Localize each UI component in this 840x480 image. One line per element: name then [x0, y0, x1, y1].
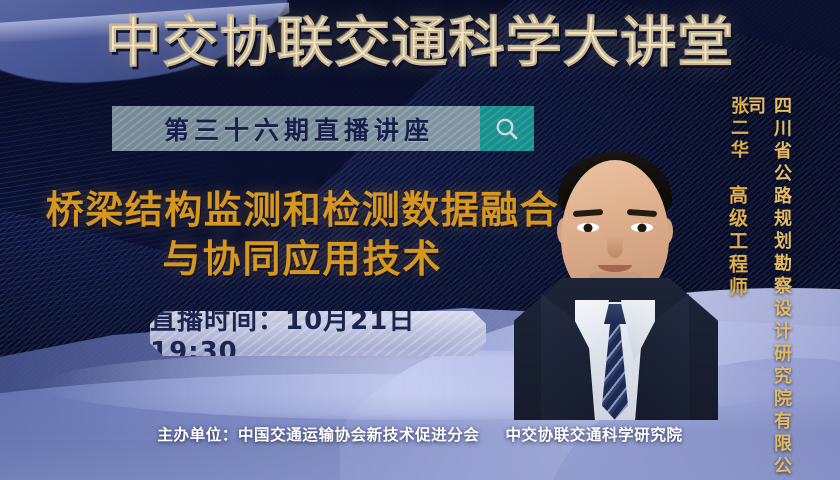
episode-banner: 第三十六期直播讲座 [112, 106, 534, 151]
live-lecture-poster: 中交协联交通科学大讲堂 第三十六期直播讲座 桥梁结构监测和检测数据融合 与协同应… [0, 0, 840, 480]
lecture-topic-line-2: 与协同应用技术 [30, 235, 575, 284]
lecture-topic: 桥梁结构监测和检测数据融合 与协同应用技术 [30, 186, 575, 285]
search-button[interactable] [480, 106, 534, 151]
broadcast-time-badge: 直播时间：10月21日19:30 [150, 311, 486, 356]
organizer-footer: 主办单位：中国交通运输协会新技术促进分会中交协联交通科学研究院 [0, 423, 840, 445]
organizer-prefix: 主办单位： [157, 426, 238, 444]
portrait-nose [607, 236, 623, 258]
portrait-eye-right [631, 223, 653, 232]
organizer-name-1: 中国交通运输协会新技术促进分会 [238, 426, 480, 444]
portrait-eye-left [577, 223, 599, 232]
search-icon [493, 115, 521, 143]
organizer-name-2: 中交协联交通科学研究院 [505, 426, 682, 444]
episode-label: 第三十六期直播讲座 [158, 111, 434, 147]
lecture-topic-line-1: 桥梁结构监测和检测数据融合 [30, 186, 575, 235]
broadcast-time-text: 直播时间：10月21日19:30 [150, 311, 486, 356]
page-title: 中交协联交通科学大讲堂 [0, 16, 840, 70]
episode-banner-body: 第三十六期直播讲座 [112, 106, 480, 151]
